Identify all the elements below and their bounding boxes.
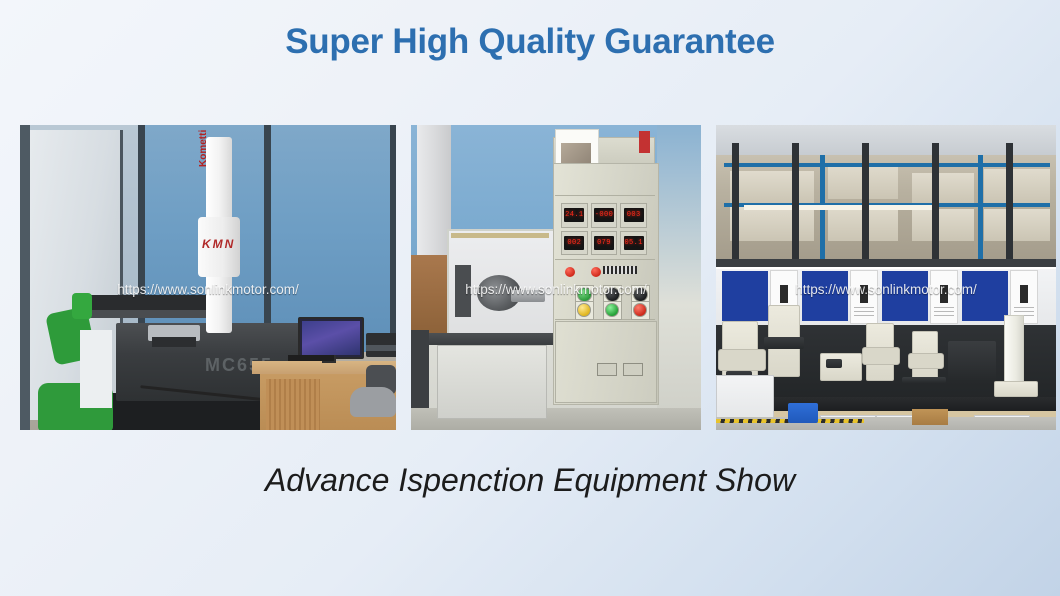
test-rig-frame-top (451, 233, 549, 238)
window-mullion-icon (932, 143, 939, 265)
comparator-head (908, 353, 944, 369)
equipment-diagram-icon (940, 285, 948, 303)
slide-caption: Advance Ispenction Equipment Show (0, 462, 1060, 499)
digital-meter: 24.1 (561, 203, 588, 228)
cmm-bridge-rail (80, 310, 220, 318)
meter-value: 003 (627, 211, 641, 219)
height-gauge-base (994, 381, 1038, 397)
sheet-text-line (934, 311, 954, 312)
racking-upright (978, 147, 983, 259)
monitor-screen (302, 321, 360, 355)
digital-meter: 05.1 (620, 231, 647, 256)
stacked-goods (730, 171, 814, 203)
cmm-brand-plate-label: KMN (202, 237, 235, 251)
stacked-goods (912, 173, 974, 203)
meter-value: 079 (597, 239, 611, 247)
window-mullion-icon (792, 143, 799, 265)
meter-display: 079 (594, 236, 614, 250)
rotary-selector-knob[interactable] (633, 287, 648, 302)
emergency-stop-button[interactable] (565, 267, 575, 277)
board-blue-panel (882, 271, 928, 321)
meter-display: 24.1 (564, 208, 584, 222)
counter-display (603, 266, 637, 274)
ceiling-light-icon (744, 205, 934, 210)
stacked-goods (984, 169, 1050, 203)
meter-display: 05.1 (624, 236, 644, 250)
instrument-base (902, 377, 946, 383)
window-mullion-icon (732, 143, 739, 265)
cmm-brand-vertical-label: Kometti (198, 130, 209, 167)
vent-grille-icon (623, 363, 643, 376)
sheet-text-line (934, 315, 954, 316)
vent-grille-icon (597, 363, 617, 376)
cabinet-panel-seam (555, 195, 655, 196)
window-mullion-icon (390, 125, 396, 357)
blue-storage-crate (788, 403, 818, 423)
bench-top (429, 333, 555, 345)
stacked-goods (730, 207, 814, 241)
door-frame (20, 125, 30, 430)
emergency-stop-button[interactable] (591, 267, 601, 277)
office-chair-seat (350, 387, 396, 417)
stacked-goods (984, 209, 1050, 241)
ceiling (716, 125, 1056, 155)
window-mullion-icon (862, 143, 869, 265)
page-title: Super High Quality Guarantee (0, 22, 1060, 62)
indicator-lamp-housing (631, 301, 650, 320)
photo-metrology-lab[interactable]: https://www.sonlinkmotor.com/ (716, 125, 1056, 430)
desk-cabinet-door (266, 379, 320, 430)
rig-mounting-bracket (455, 265, 471, 317)
racking-beam (724, 163, 1050, 167)
window-sill (716, 259, 1056, 267)
board-blue-panel (962, 271, 1008, 321)
sheet-text-line (1014, 311, 1034, 312)
photo-cmm-lab[interactable]: MC655 Kometti KMN (20, 125, 396, 430)
meter-display: 003 (624, 208, 644, 222)
bench-cabinet (437, 345, 547, 419)
meter-value: -000 (595, 211, 613, 219)
computer-monitor (298, 317, 364, 359)
meter-value: 24.1 (565, 211, 583, 219)
green-selector-knob[interactable] (577, 287, 592, 302)
equipment-diagram-icon (1020, 285, 1028, 303)
digital-meter: 079 (591, 231, 618, 256)
sheet-text-line (1014, 307, 1034, 308)
right-wall-section (657, 125, 701, 415)
meter-display: -000 (594, 208, 614, 222)
green-indicator-lamp (605, 303, 619, 317)
gear-tester (948, 341, 996, 381)
window-mullion-icon (1006, 143, 1013, 265)
slide-root: Super High Quality Guarantee MC655 Komet… (0, 0, 1060, 596)
board-blue-panel (802, 271, 848, 321)
digital-meter: 003 (620, 203, 647, 228)
microscope-head (862, 347, 900, 365)
dynamometer-shaft (511, 290, 545, 302)
meter-value: 002 (567, 239, 581, 247)
cabinet-lower-door[interactable] (555, 321, 657, 403)
cmm-bridge-beam (80, 295, 220, 310)
instruction-sheet (850, 270, 878, 324)
wall-curtain (417, 125, 451, 275)
meter-value: 05.1 (624, 239, 642, 247)
wooden-post (411, 255, 447, 335)
racking-upright (820, 147, 825, 259)
yellow-indicator-lamp (577, 303, 591, 317)
equipment-diagram-icon (860, 285, 868, 303)
workpiece (152, 337, 196, 347)
cabinet-panel-seam (555, 259, 655, 260)
height-gauge-column (1004, 315, 1024, 389)
indicator-lamp-housing (575, 301, 594, 320)
green-arm-joint (72, 293, 92, 319)
indicator-lamp-housing (603, 301, 622, 320)
cardboard-box (912, 409, 948, 425)
sheet-text-line (854, 315, 874, 316)
instruction-sheet (930, 270, 958, 324)
photo-strip: MC655 Kometti KMN (20, 125, 1041, 430)
projector-arm (764, 337, 804, 349)
sheet-text-line (854, 307, 874, 308)
stacked-goods (912, 209, 974, 241)
keyboard (288, 355, 334, 361)
rotary-selector-knob[interactable] (605, 287, 620, 302)
microscope-head (718, 349, 766, 371)
digital-meter-grid: 24.1 -000 003 002 (561, 203, 647, 255)
printer-tray (366, 345, 396, 351)
digital-meter: -000 (591, 203, 618, 228)
readout-screen (826, 359, 842, 368)
red-indicator-lamp (633, 303, 647, 317)
meter-display: 002 (564, 236, 584, 250)
white-machine-leg (80, 330, 112, 408)
digital-meter: 002 (561, 231, 588, 256)
red-warning-tag (639, 131, 650, 153)
sheet-text-line (854, 311, 874, 312)
board-blue-panel (722, 271, 768, 321)
equipment-diagram-icon (780, 285, 788, 303)
photo-motor-test-bench[interactable]: 24.1 -000 003 002 (411, 125, 701, 430)
sheet-text-line (934, 307, 954, 308)
